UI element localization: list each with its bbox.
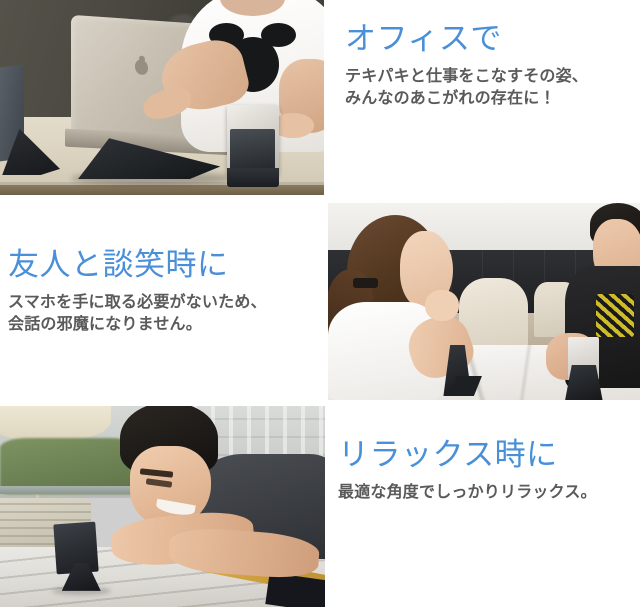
promo-page: オフィスで テキパキと仕事をこなすその姿、 みんなのあこがれの存在に！ [0, 0, 640, 607]
friends-body-copy: スマホを手に取る必要がないため、 会話の邪魔になりません。 [8, 292, 267, 337]
relax-text-block: リラックス時に 最適な角度でしっかりリラックス。 [338, 438, 597, 504]
relax-headline: リラックス時に [338, 438, 597, 473]
woman-hand-on-chin [425, 290, 459, 322]
office-body-line-2: みんなのあこがれの存在に！ [345, 88, 588, 111]
friends-body-line-2: 会話の邪魔になりません。 [8, 314, 267, 337]
apple-logo-icon [135, 58, 148, 75]
office-body-line-1: テキパキと仕事をこなすその姿、 [345, 66, 588, 89]
office-body-copy: テキパキと仕事をこなすその姿、 みんなのあこがれの存在に！ [345, 66, 588, 111]
hair-tie [353, 278, 378, 288]
phone-stand-grip [230, 129, 275, 172]
tshirt-graphic-print [596, 294, 633, 337]
cafe-conversation-photo [328, 203, 640, 400]
relax-body-copy: 最適な角度でしっかりリラックス。 [338, 482, 597, 505]
phone-stand-base [227, 168, 279, 188]
office-headline: オフィスで [345, 22, 588, 57]
friends-text-block: 友人と談笑時に スマホを手に取る必要がないため、 会話の邪魔になりません。 [8, 248, 267, 337]
friends-headline: 友人と談笑時に [8, 248, 267, 283]
friends-body-line-1: スマホを手に取る必要がないため、 [8, 292, 267, 315]
outdoor-relax-photo [0, 406, 325, 607]
relax-body-line-1: 最適な角度でしっかりリラックス。 [338, 482, 597, 505]
office-text-block: オフィスで テキパキと仕事をこなすその姿、 みんなのあこがれの存在に！ [345, 22, 588, 111]
office-desk-photo [0, 0, 324, 195]
